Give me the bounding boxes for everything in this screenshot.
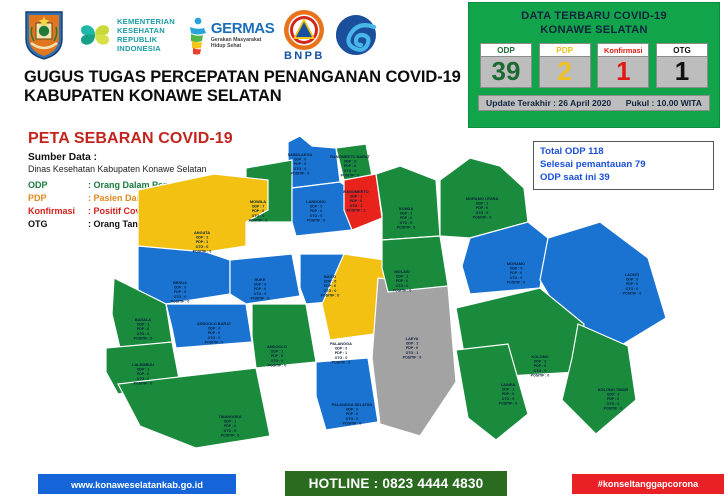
- bnpb-logo-icon: BNPB: [283, 9, 325, 62]
- kemenkes-line-4: INDONESIA: [117, 44, 175, 53]
- kemenkes-line-2: KESEHATAN: [117, 26, 175, 35]
- stat-label-konfirmasi: Konfirmasi: [597, 43, 649, 56]
- data-panel-title: DATA TERBARU COVID-19 KONAWE SELATAN: [469, 3, 719, 37]
- kemenkes-logo-text: KEMENTERIAN KESEHATAN REPUBLIK INDONESIA: [117, 17, 175, 54]
- bnpb-wordmark: BNPB: [284, 50, 325, 62]
- update-time: Pukul : 10.00 WITA: [626, 98, 702, 108]
- stat-card-odp: ODP 39: [480, 43, 532, 88]
- germas-wordmark: GERMAS: [211, 21, 274, 36]
- germas-subtext: Gerakan Masyarakat Hidup Sehat: [211, 37, 274, 50]
- germas-sub-2: Hidup Sehat: [211, 43, 274, 50]
- germas-logo-text: GERMAS Gerakan Masyarakat Hidup Sehat: [211, 21, 274, 50]
- data-panel-title-2: KONAWE SELATAN: [469, 24, 719, 38]
- title-line-1: GUGUS TUGAS PERCEPATAN PENANGANAN COVID-…: [24, 68, 464, 87]
- stat-card-konfirmasi: Konfirmasi 1: [597, 43, 649, 88]
- data-panel-footer: Update Terakhir : 26 April 2020 Pukul : …: [478, 95, 710, 111]
- kemenkes-line-1: KEMENTERIAN: [117, 17, 175, 26]
- website-link[interactable]: www.konaweselatankab.go.id: [38, 474, 236, 494]
- stat-label-otg: OTG: [656, 43, 708, 56]
- title-line-2: KABUPATEN KONAWE SELATAN: [24, 87, 464, 106]
- data-panel: DATA TERBARU COVID-19 KONAWE SELATAN ODP…: [468, 2, 720, 128]
- stat-value-pdp: 2: [539, 56, 591, 88]
- kemenkes-line-3: REPUBLIK: [117, 35, 175, 44]
- page-title: GUGUS TUGAS PERCEPATAN PENANGANAN COVID-…: [24, 68, 464, 107]
- stat-label-pdp: PDP: [539, 43, 591, 56]
- data-panel-cards: ODP 39 PDP 2 Konfirmasi 1 OTG 1: [469, 37, 719, 88]
- stat-value-konfirmasi: 1: [597, 56, 649, 88]
- stat-value-odp: 39: [480, 56, 532, 88]
- hashtag-banner: #konseltanggapcorona: [572, 474, 724, 494]
- stat-card-pdp: PDP 2: [539, 43, 591, 88]
- data-panel-title-1: DATA TERBARU COVID-19: [469, 10, 719, 24]
- update-timestamp: Update Terakhir : 26 April 2020: [486, 98, 611, 108]
- odp-summary-box: Total ODP 118 Selesai pemantauan 79 ODP …: [533, 141, 714, 190]
- stat-card-otg: OTG 1: [656, 43, 708, 88]
- infographic-root: KEMENTERIAN KESEHATAN REPUBLIK INDONESIA…: [0, 0, 727, 498]
- kemenkes-logo-icon: KEMENTERIAN KESEHATAN REPUBLIK INDONESIA: [75, 15, 175, 55]
- hotline-banner: HOTLINE : 0823 4444 4830: [285, 471, 507, 496]
- summary-selesai-pemantauan: Selesai pemantauan 79: [540, 158, 707, 171]
- summary-total-odp: Total ODP 118: [540, 145, 707, 158]
- germas-logo-icon: GERMAS Gerakan Masyarakat Hidup Sehat: [184, 15, 274, 55]
- map-district-andoolo[interactable]: [252, 304, 316, 368]
- summary-odp-saat-ini: ODP saat ini 39: [540, 171, 707, 184]
- wave-logo-icon: [334, 13, 378, 57]
- logo-strip: KEMENTERIAN KESEHATAN REPUBLIK INDONESIA…: [22, 4, 378, 66]
- konawe-selatan-crest-icon: [22, 9, 66, 61]
- stat-label-odp: ODP: [480, 43, 532, 56]
- stat-value-otg: 1: [656, 56, 708, 88]
- map-label-palangga: PALANGGAODP : 0PDP : 1OTG : 0POSITIF : 0: [330, 341, 352, 364]
- map-district-molasi[interactable]: [382, 236, 448, 292]
